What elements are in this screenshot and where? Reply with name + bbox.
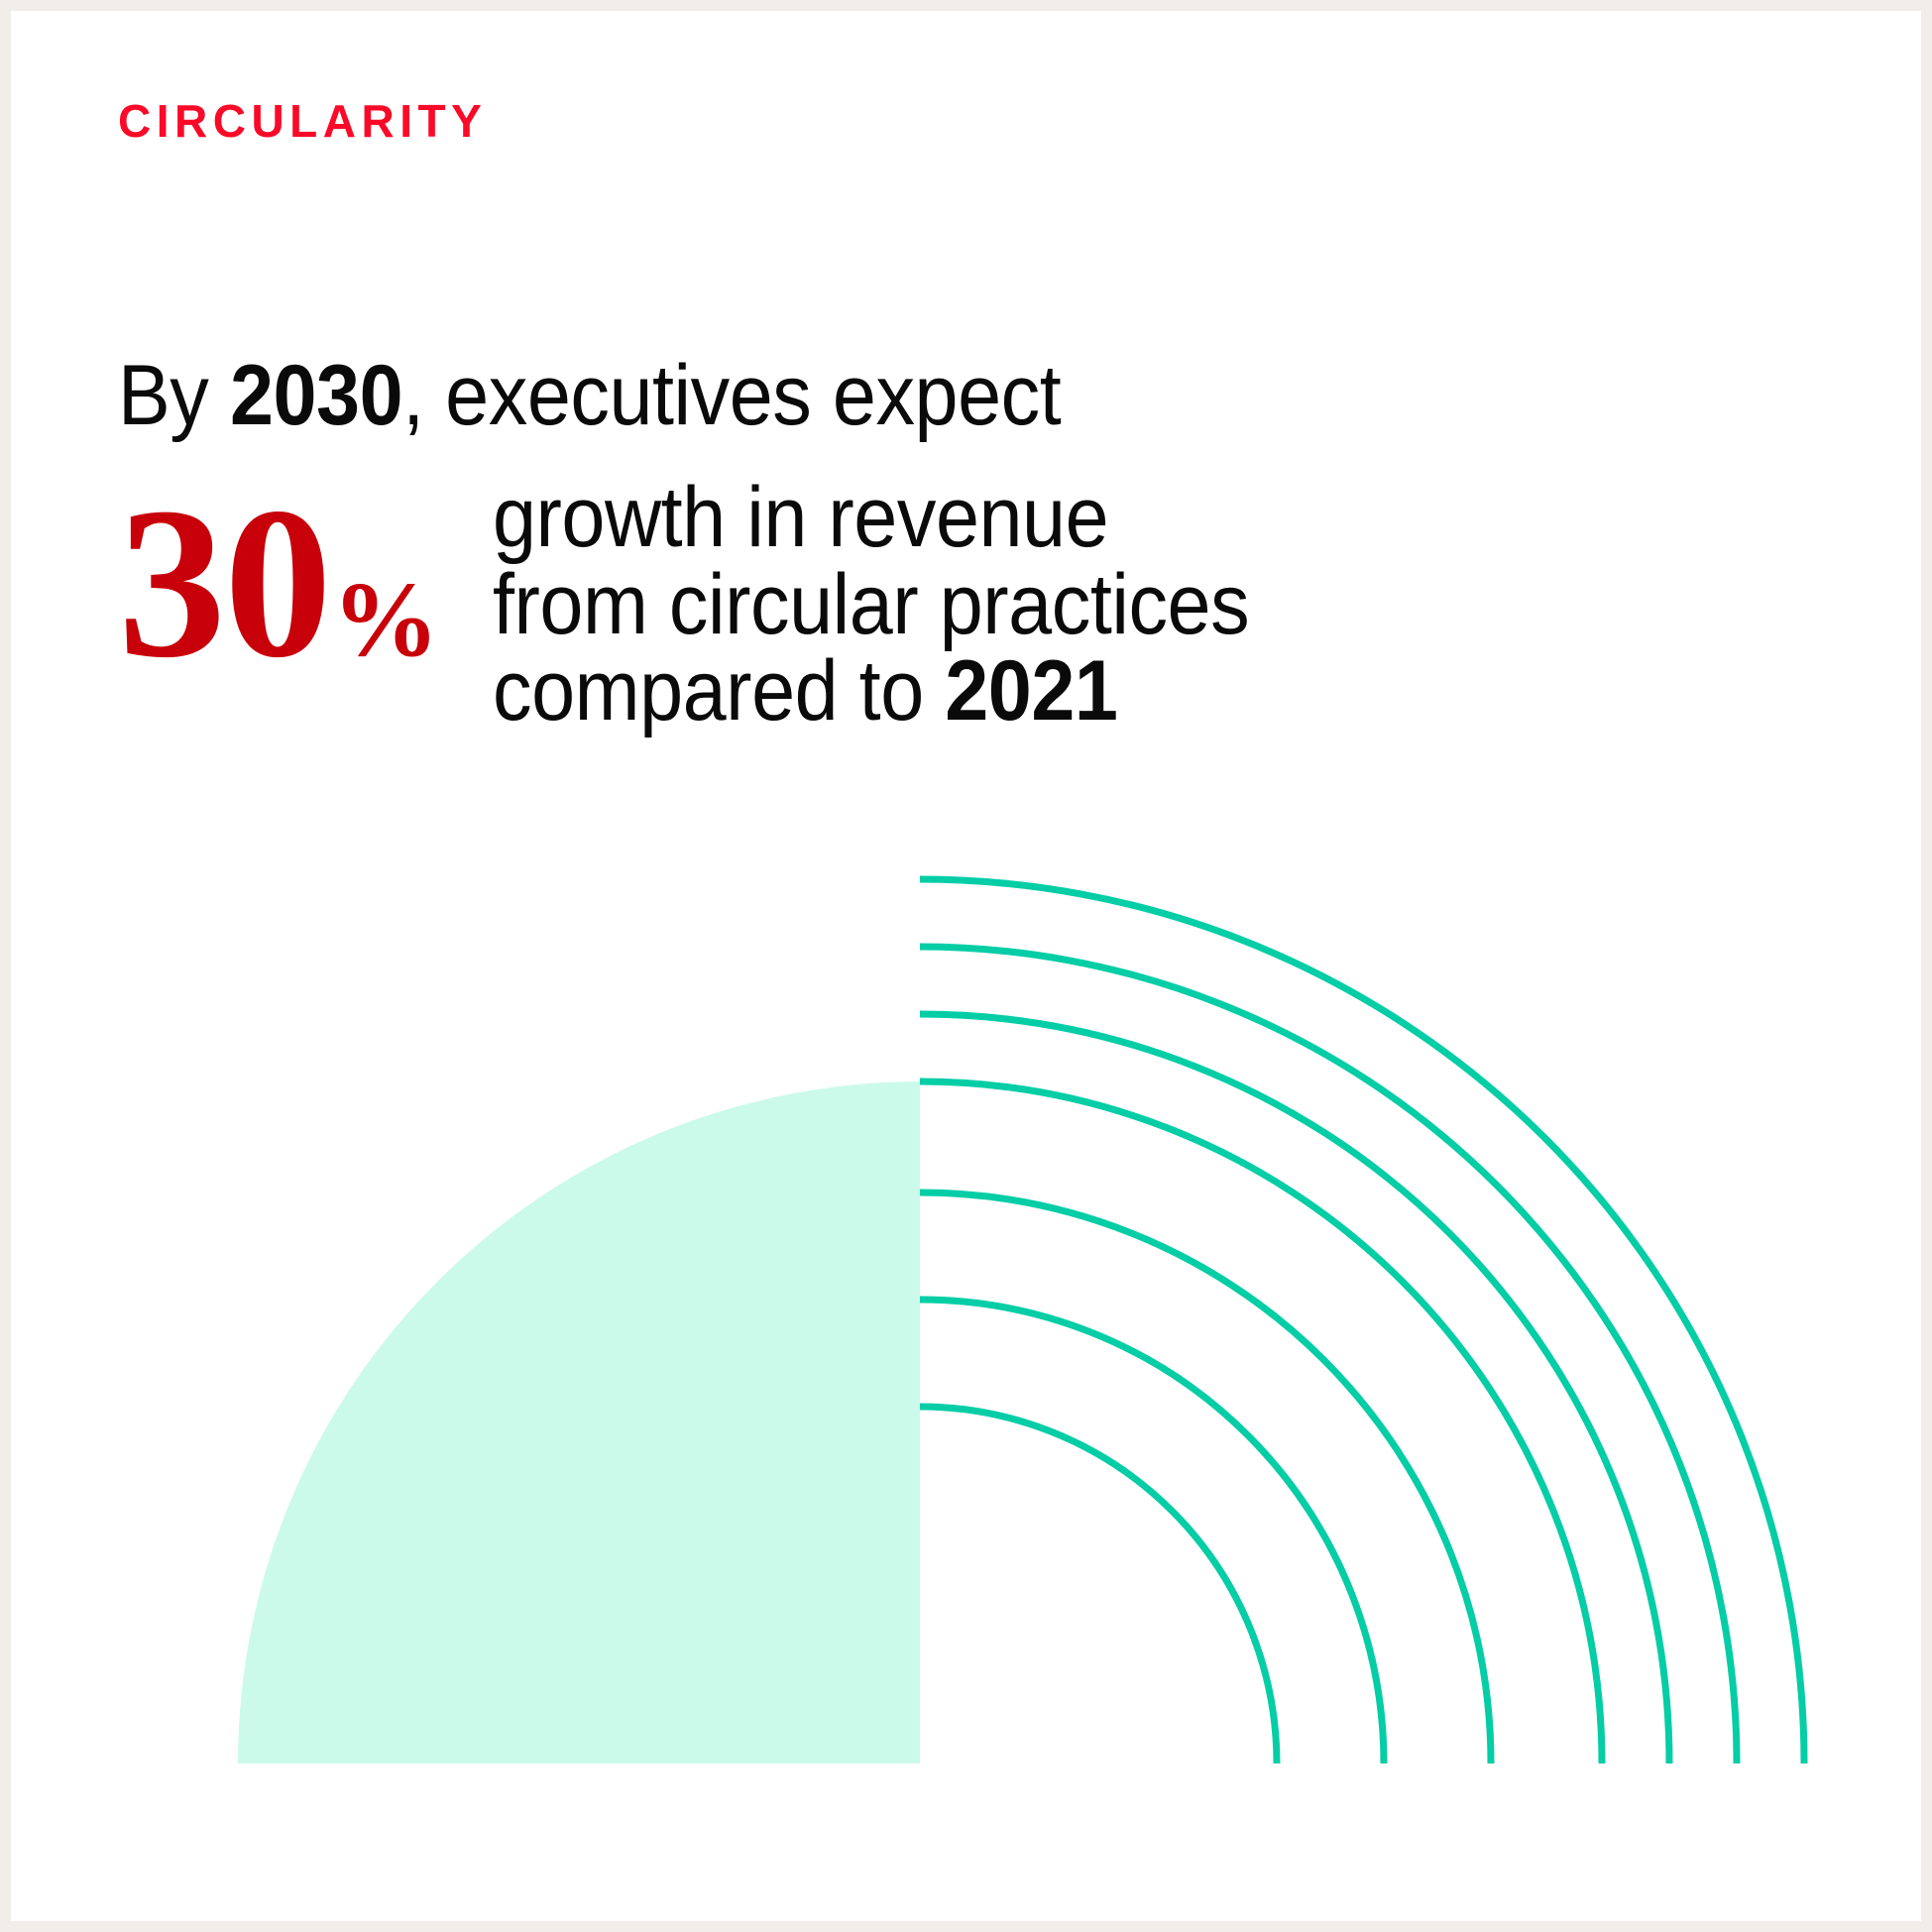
stat-description-line-3: compared to 2021 — [493, 648, 1516, 736]
headline-line-1: By 2030, executives expect — [118, 353, 1486, 438]
stat-description-line-3-prefix: compared to — [493, 643, 945, 739]
arc-ring-7 — [920, 879, 1804, 1763]
arc-ring-2 — [920, 1300, 1384, 1763]
arc-ring-6 — [920, 947, 1737, 1763]
headline-year-2030: 2030 — [230, 348, 402, 443]
stat-row: 30% growth in revenue from circular prac… — [118, 475, 1605, 736]
headline-suffix: , executives expect — [402, 348, 1061, 443]
arc-ring-1 — [920, 1407, 1277, 1763]
filled-quarter-disc — [238, 1081, 920, 1763]
arc-ring-3 — [920, 1193, 1491, 1763]
circularity-graphic — [11, 11, 1921, 1921]
stat-baseline-year-2021: 2021 — [945, 643, 1117, 739]
arc-group — [920, 879, 1804, 1763]
stat-value-group: 30% — [118, 493, 493, 674]
arc-ring-5 — [920, 1014, 1669, 1763]
stat-description-line-1: growth in revenue — [493, 475, 1516, 562]
category-eyebrow-label: CIRCULARITY — [118, 98, 487, 144]
screenshot-canvas: CIRCULARITY By 2030, executives expect 3… — [0, 0, 1932, 1932]
stat-value: 30 — [118, 493, 330, 674]
headline-prefix: By — [118, 348, 230, 443]
concentric-arcs-svg — [11, 11, 1921, 1921]
arc-ring-4 — [920, 1081, 1602, 1763]
stat-card: CIRCULARITY By 2030, executives expect 3… — [11, 11, 1921, 1921]
stat-unit-percent: % — [332, 567, 439, 674]
headline-block: By 2030, executives expect — [118, 353, 1605, 446]
stat-description: growth in revenue from circular practice… — [493, 475, 1516, 736]
stat-description-line-2: from circular practices — [493, 562, 1516, 649]
